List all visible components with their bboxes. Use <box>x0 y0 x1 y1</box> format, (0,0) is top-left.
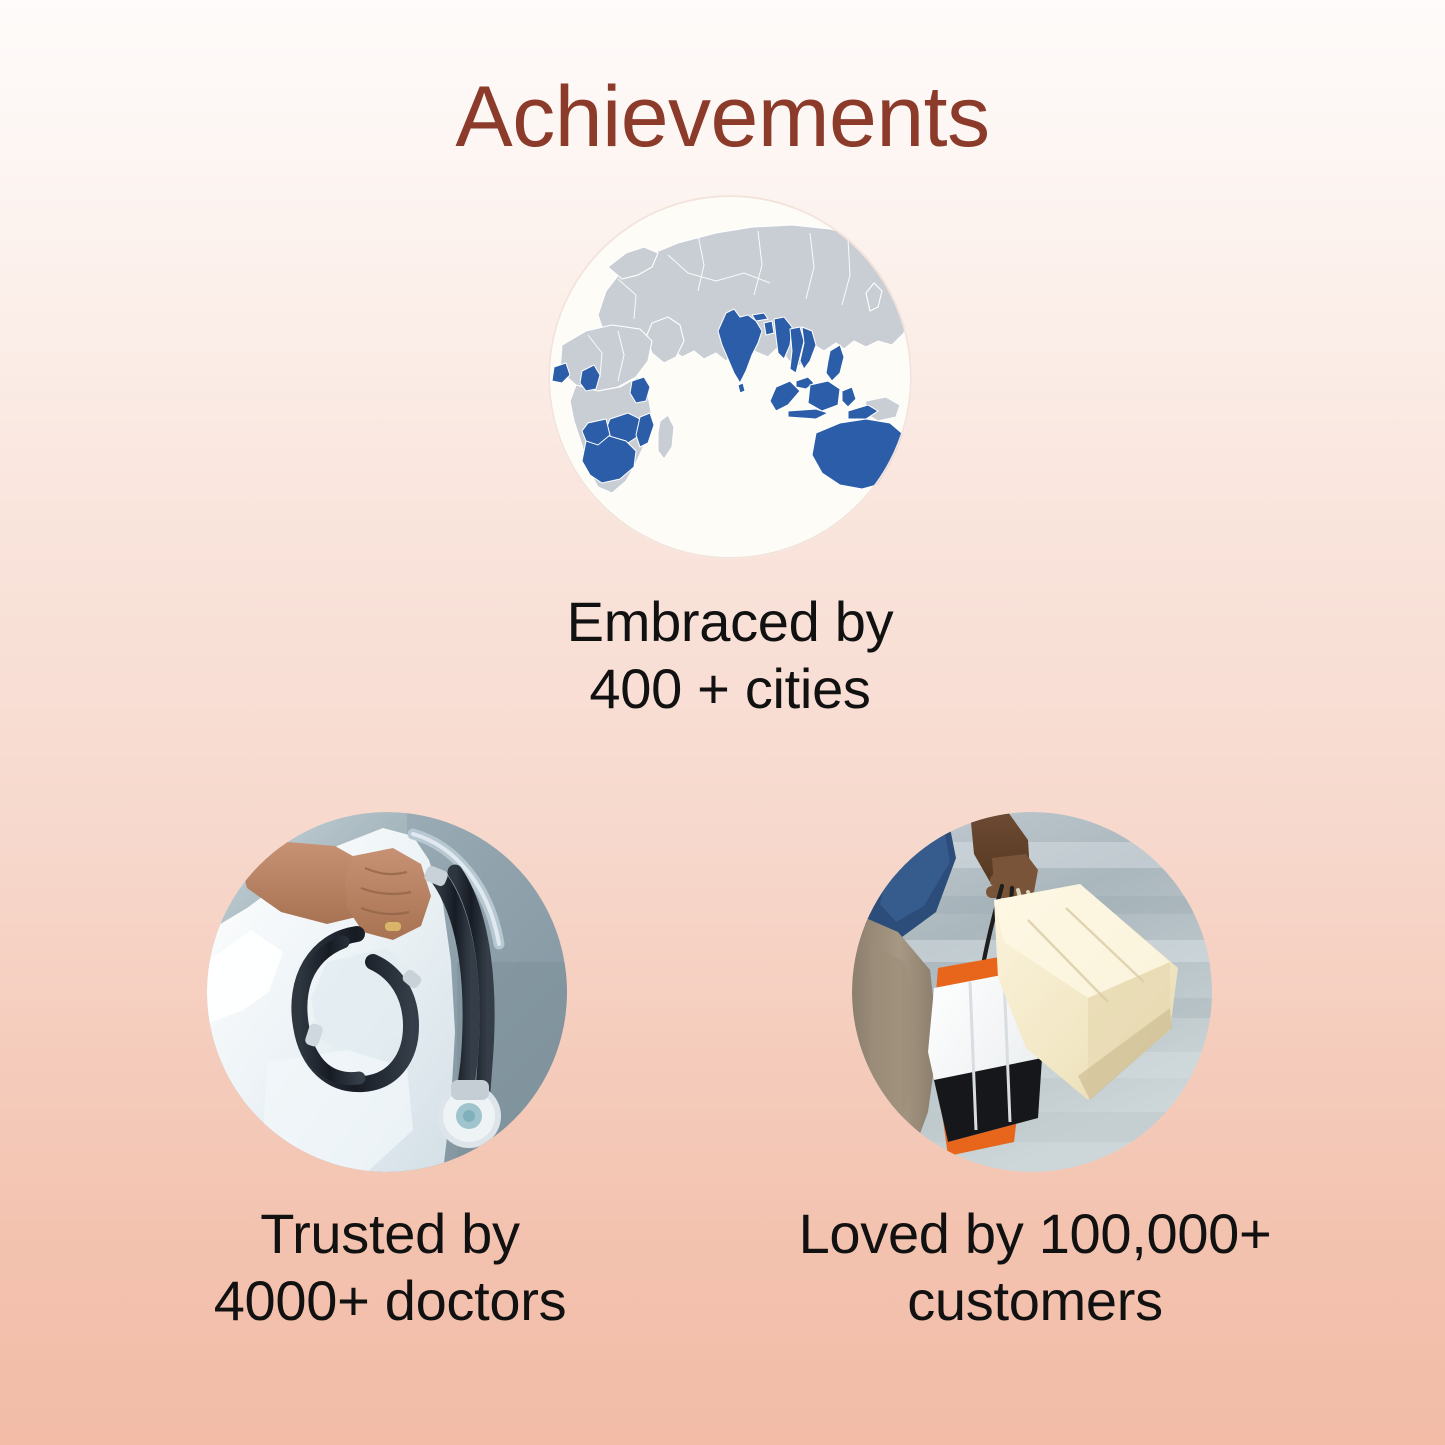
achievements-page: Achievements <box>0 0 1445 1445</box>
caption-customers-line2: customers <box>735 1267 1335 1334</box>
doctor-stethoscope-photo <box>207 812 567 1172</box>
caption-cities: Embraced by 400 + cities <box>420 588 1040 722</box>
caption-doctors-line2: 4000+ doctors <box>120 1267 660 1334</box>
shopping-bags-photo <box>852 812 1212 1172</box>
caption-doctors: Trusted by 4000+ doctors <box>120 1200 660 1334</box>
page-title: Achievements <box>0 72 1445 162</box>
caption-cities-line1: Embraced by <box>420 588 1040 655</box>
caption-customers-line1: Loved by 100,000+ <box>735 1200 1335 1267</box>
caption-doctors-line1: Trusted by <box>120 1200 660 1267</box>
caption-customers: Loved by 100,000+ customers <box>735 1200 1335 1334</box>
globe-world-map-icon <box>548 195 912 559</box>
caption-cities-line2: 400 + cities <box>420 655 1040 722</box>
